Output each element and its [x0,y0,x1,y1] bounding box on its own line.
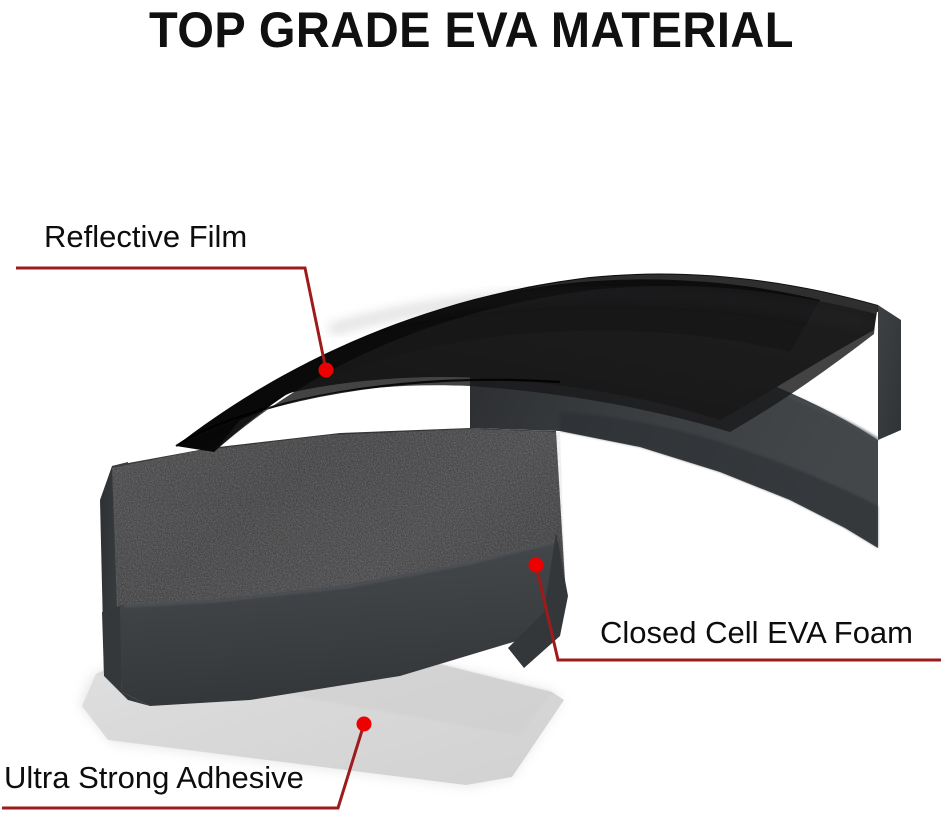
eva-material-cross-section-illustration [0,0,943,820]
foam-layer [90,420,590,710]
label-ultra-strong-adhesive: Ultra Strong Adhesive [4,762,304,793]
marker-dot-ultra-strong-adhesive [357,717,372,732]
label-reflective-film: Reflective Film [44,221,247,252]
marker-dot-reflective-film [319,363,334,378]
label-closed-cell-eva-foam: Closed Cell EVA Foam [600,617,913,648]
leader-line-reflective-film [16,268,326,370]
product-infographic: TOP GRADE EVA MATERIAL [0,0,943,820]
marker-dot-closed-cell-eva-foam [529,558,544,573]
